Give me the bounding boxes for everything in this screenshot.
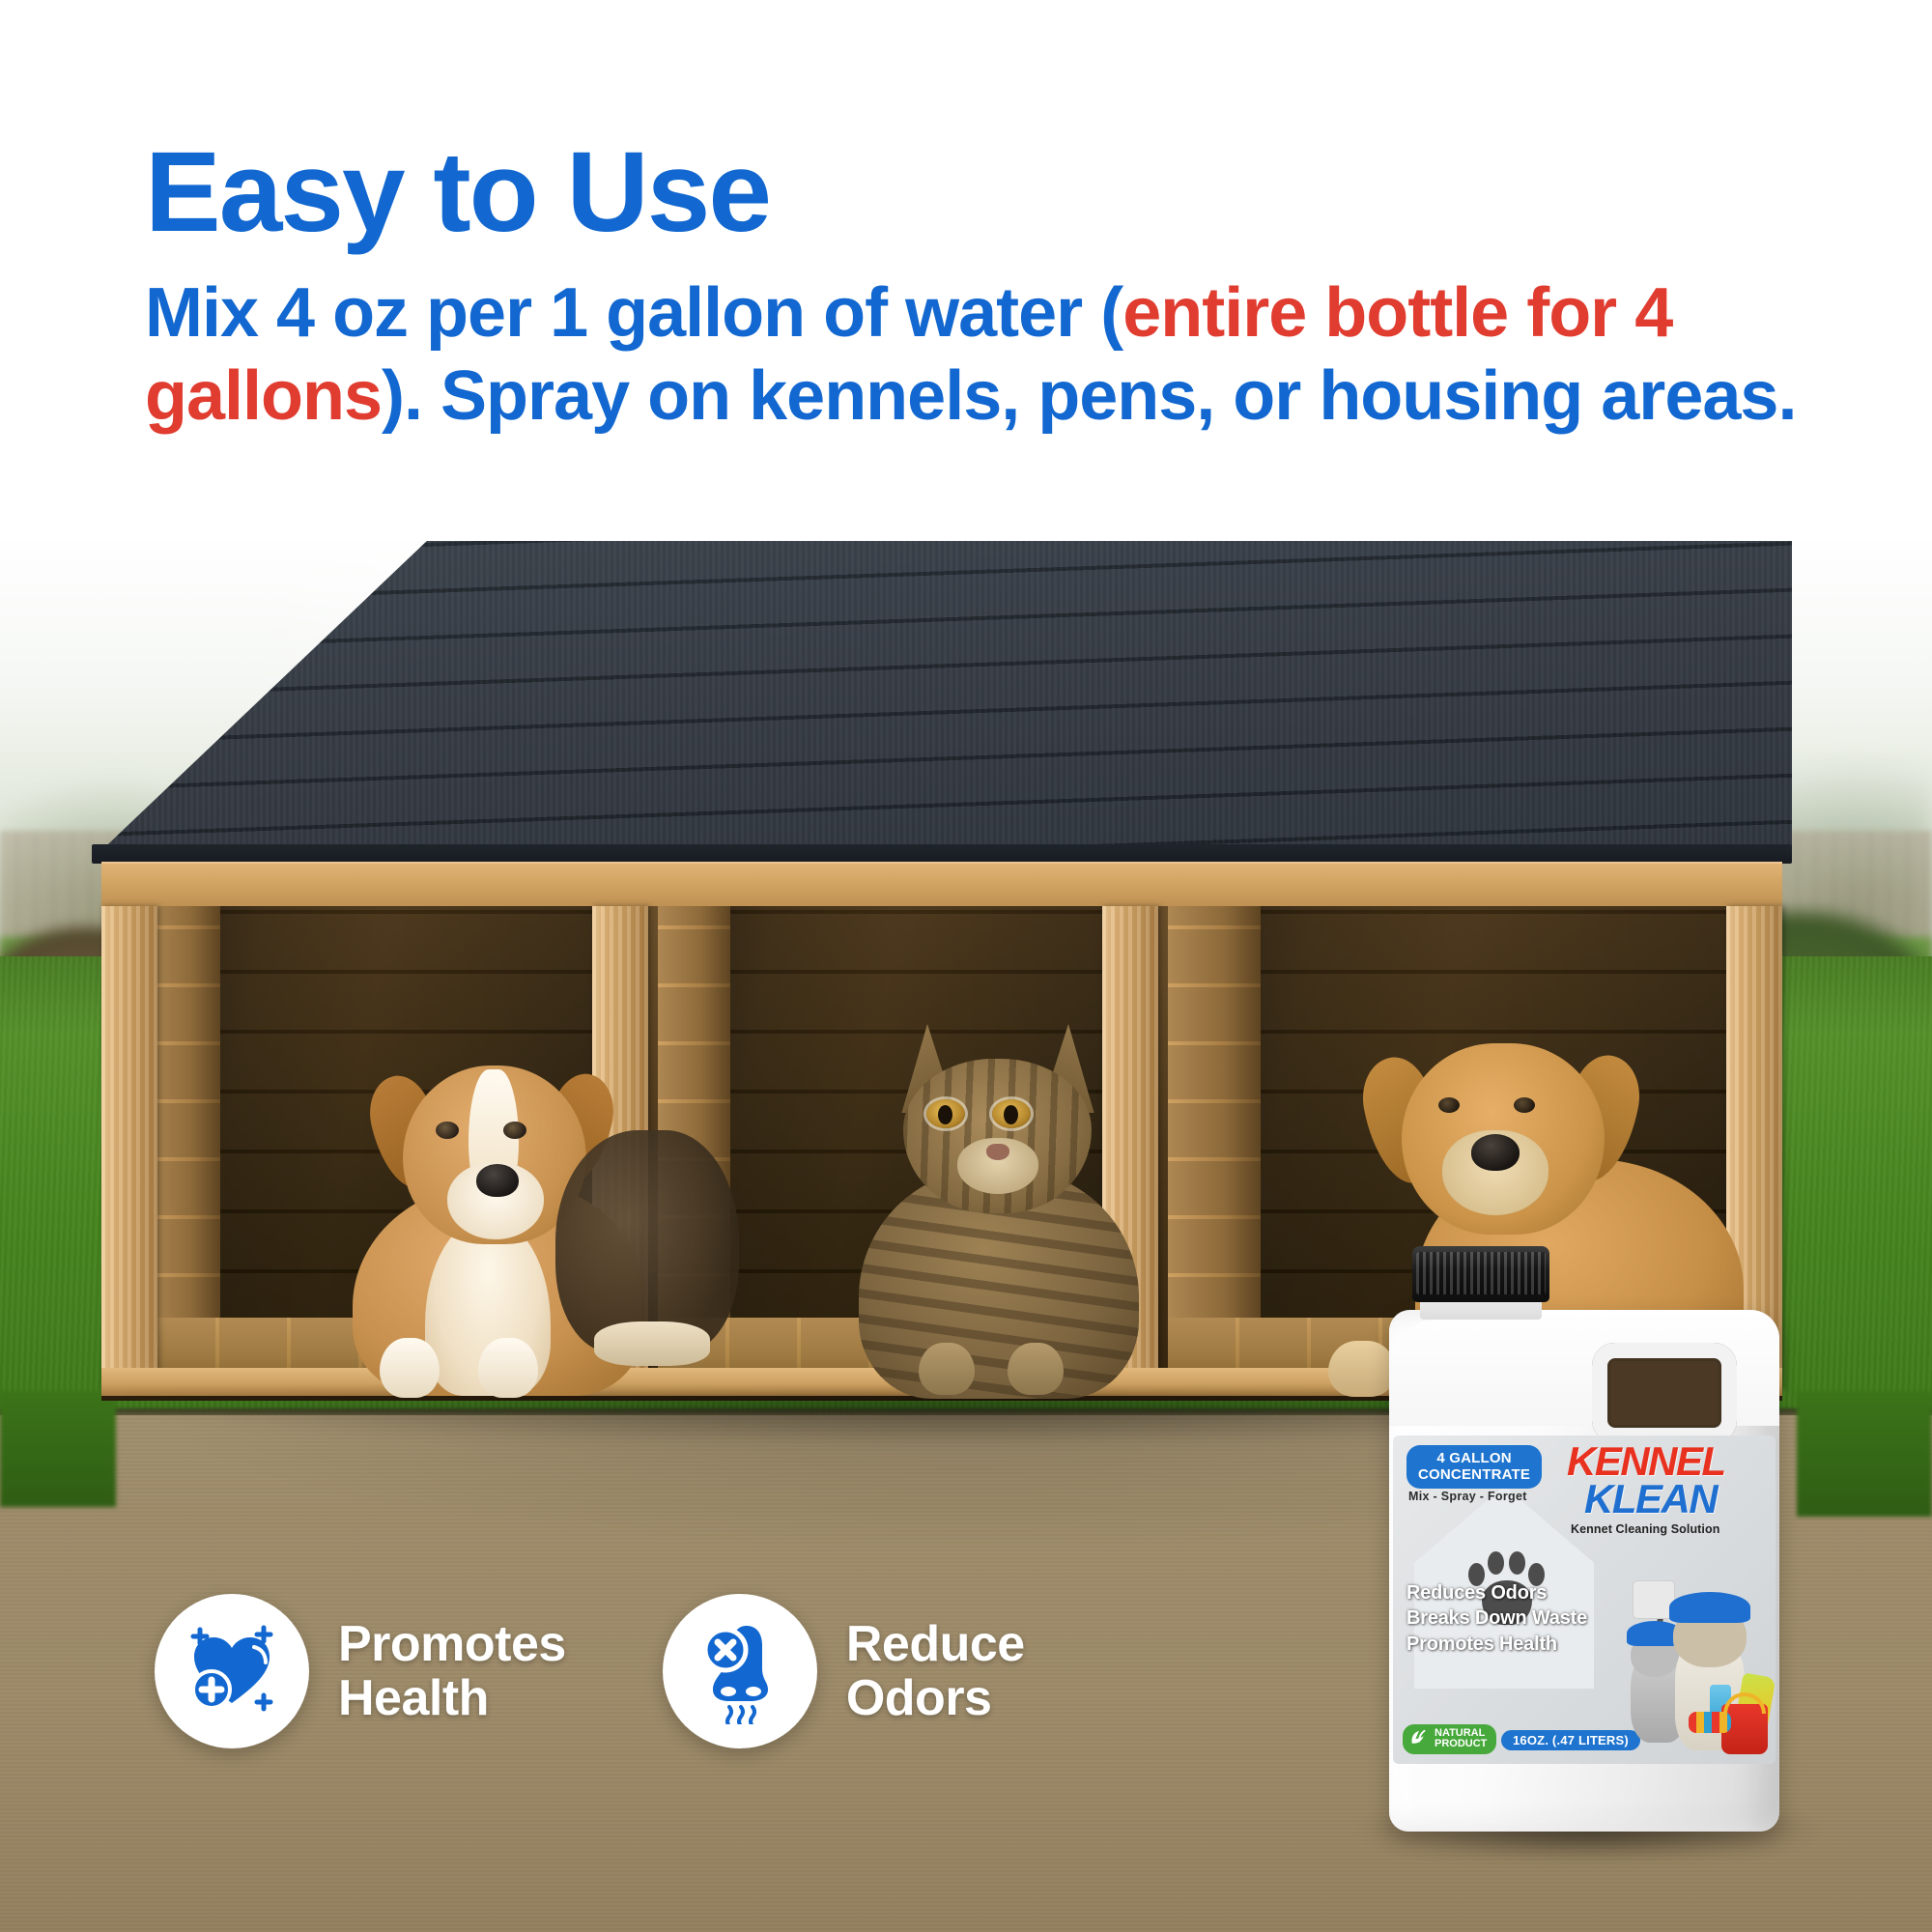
grass-strip-right (1797, 1391, 1932, 1517)
header-beam (101, 862, 1782, 908)
brand-subtitle: Kennet Cleaning Solution (1571, 1522, 1770, 1536)
dog-right-eye-left (1438, 1097, 1460, 1113)
dog-left-nose (476, 1164, 519, 1197)
brand-name-line2: KLEAN (1584, 1481, 1770, 1519)
cat-pupil-left (938, 1105, 952, 1124)
roof-drip-edge (92, 844, 1792, 864)
mascot-dog-cap (1669, 1592, 1750, 1623)
page-title: Easy to Use (145, 135, 1845, 249)
dog-left-eye-right (503, 1122, 526, 1139)
badge-circle-health (155, 1594, 309, 1748)
corner-post-left (101, 906, 157, 1389)
dog-left-companion (555, 1130, 739, 1352)
volume-badge: 16OZ. (.47 LITERS) (1501, 1730, 1640, 1750)
brand-lockup: KENNEL KLEAN Kennet Cleaning Solution (1567, 1443, 1770, 1536)
dog-right-eye-right (1514, 1097, 1535, 1113)
paw-toe (1488, 1551, 1504, 1575)
cat-paw-left (919, 1343, 975, 1395)
mascot-illustration (1625, 1590, 1770, 1760)
instruction-text: Mix 4 oz per 1 gallon of water (entire b… (145, 272, 1806, 438)
bay-side-wall (1168, 906, 1261, 1389)
gloves-prop (1689, 1712, 1731, 1733)
feature-badge-row: Promotes Health Reduce Odors (155, 1594, 1025, 1748)
cat-center (845, 1024, 1145, 1401)
dog-right-nose (1471, 1134, 1520, 1171)
dog-left-companion-paws (594, 1321, 710, 1366)
badge-circle-odors (663, 1594, 817, 1748)
badge-label-health: Promotes Health (338, 1617, 566, 1725)
badge-label-odors: Reduce Odors (846, 1617, 1025, 1725)
product-marketing-card: Easy to Use Mix 4 oz per 1 gallon of wat… (0, 0, 1932, 1932)
dog-left-paw-left (380, 1338, 440, 1398)
heart-plus-sparkle-icon (179, 1618, 285, 1724)
leaf-icon (1408, 1728, 1430, 1749)
paw-toe (1509, 1551, 1525, 1575)
dog-left-paw-right (478, 1338, 538, 1398)
badge-promotes-health: Promotes Health (155, 1594, 566, 1748)
brand-name-line1: KENNEL (1567, 1443, 1770, 1481)
cat-paw-right (1008, 1343, 1064, 1395)
instruction-segment-3: ). Spray on kennels, pens, or housing ar… (382, 357, 1796, 435)
dog-left-eye-left (436, 1122, 459, 1139)
cat-pupil-right (1004, 1105, 1018, 1124)
product-bottle: 4 GALLON CONCENTRATE Mix - Spray - Forge… (1381, 1246, 1787, 1845)
natural-product-badge: NATURAL PRODUCT (1403, 1724, 1496, 1754)
nose-odor-block-icon (687, 1618, 793, 1724)
bay-side-wall (148, 906, 220, 1389)
headline-block: Easy to Use Mix 4 oz per 1 gallon of wat… (145, 135, 1845, 438)
product-benefits: Reduces Odors Breaks Down Waste Promotes… (1406, 1580, 1587, 1657)
badge-reduce-odors: Reduce Odors (663, 1594, 1025, 1748)
concentrate-badge: 4 GALLON CONCENTRATE (1406, 1445, 1542, 1489)
headline-text: Easy to Use (145, 128, 770, 256)
bottle-cap (1412, 1246, 1549, 1302)
mix-tagline: Mix - Spray - Forget (1408, 1490, 1527, 1503)
instruction-segment-1: Mix 4 oz per 1 gallon of water ( (145, 274, 1122, 352)
roof-texture (92, 541, 1792, 860)
bottle-label: 4 GALLON CONCENTRATE Mix - Spray - Forge… (1393, 1435, 1776, 1764)
bottle-handle (1592, 1343, 1737, 1443)
cat-nose (986, 1144, 1009, 1160)
natural-badge-text: NATURAL PRODUCT (1435, 1728, 1487, 1750)
